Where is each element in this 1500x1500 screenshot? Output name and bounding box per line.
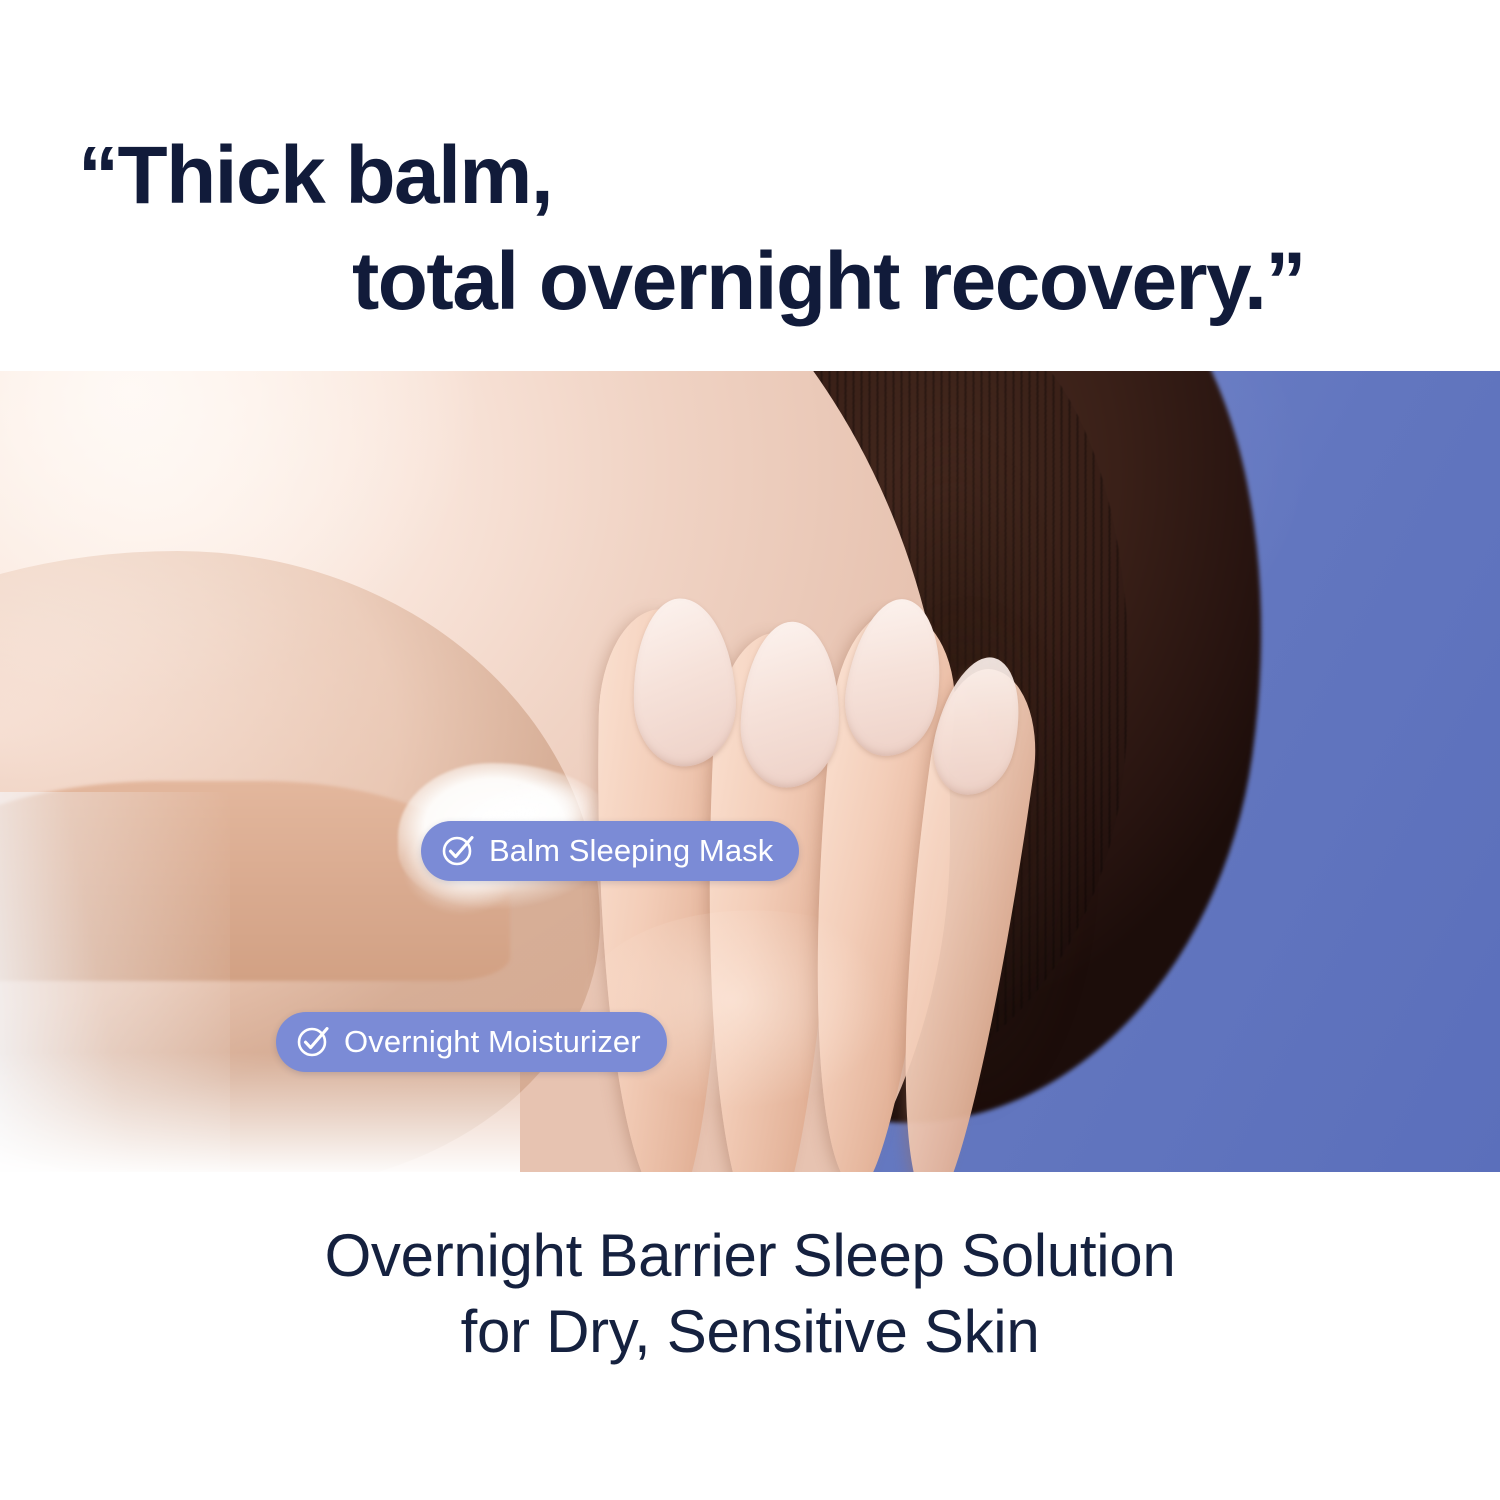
headline-line-2: total overnight recovery.” [352,232,1305,332]
check-circle-icon [295,1023,331,1059]
headline-line-1: “Thick balm, [78,126,552,226]
feature-badge-label: Overnight Moisturizer [344,1026,641,1057]
feature-badge-overnight-moisturizer[interactable]: Overnight Moisturizer [276,1012,667,1072]
hero-photo: Balm Sleeping Mask Overnight Moisturizer… [0,371,1500,1172]
caption-line-2: for Dry, Sensitive Skin [0,1294,1500,1370]
feature-badge-balm-sleeping-mask[interactable]: Balm Sleeping Mask [421,821,799,881]
caption: Overnight Barrier Sleep Solution for Dry… [0,1218,1500,1369]
caption-line-1: Overnight Barrier Sleep Solution [325,1222,1176,1289]
feature-badge-label: Balm Sleeping Mask [489,835,773,866]
headline: “Thick balm, total overnight recovery.” [0,108,1500,358]
check-circle-icon [440,832,476,868]
product-marketing-banner: “Thick balm, total overnight recovery.” [0,0,1500,1500]
